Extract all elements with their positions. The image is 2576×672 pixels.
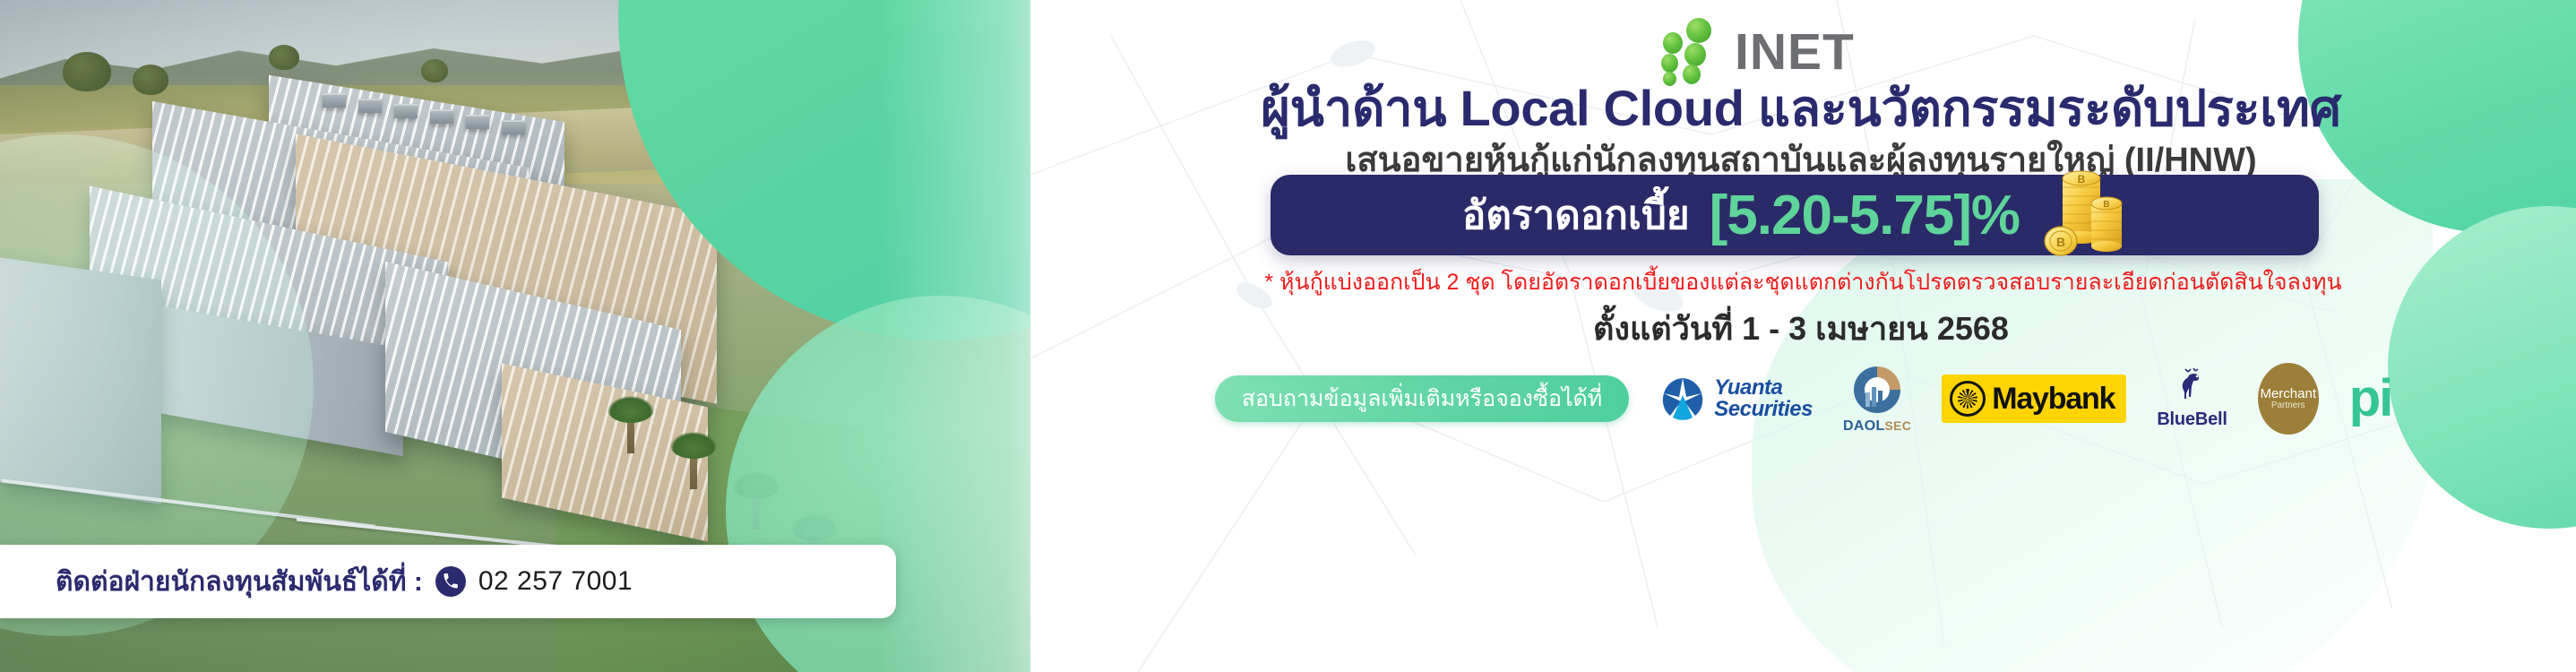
merchant-partners-oval-icon: Merchant Partners <box>2258 363 2319 435</box>
svg-text:B: B <box>2078 173 2086 185</box>
yuanta-star-icon <box>1659 375 1706 422</box>
inquiry-cta-label: สอบถามข้อมูลเพิ่มเติมหรือจองซื้อได้ที่ <box>1242 381 1603 417</box>
inet-logo: INET <box>1649 14 1944 84</box>
daol-pie-chart-icon <box>1851 364 1903 416</box>
inquiry-cta-button[interactable]: สอบถามข้อมูลเพิ่มเติมหรือจองซื้อได้ที่ <box>1215 375 1630 422</box>
partner-logo-daol[interactable]: DAOLSEC <box>1843 364 1911 435</box>
yuanta-line2: Securities <box>1714 399 1813 420</box>
contact-label: ติดต่อฝ่ายนักลงทุนสัมพันธ์ได้ที่ : <box>56 561 423 603</box>
yuanta-line1: Yuanta <box>1714 377 1813 399</box>
pi-wordmark-icon: pi <box>2349 378 2392 419</box>
bitcoin-coin-stack-icon: B B B <box>2041 162 2127 259</box>
partner-logo-maybank[interactable]: Maybank <box>1942 375 2126 423</box>
bluebell-wordmark: BlueBell <box>2157 409 2227 430</box>
investor-relations-contact[interactable]: ติดต่อฝ่ายนักลงทุนสัมพันธ์ได้ที่ : 02 25… <box>0 545 896 618</box>
partner-logo-pi[interactable]: pi <box>2349 378 2392 419</box>
merchant-line1: Merchant <box>2260 387 2316 401</box>
maybank-tiger-icon <box>1950 381 1986 417</box>
daol-wordmark: DAOLSEC <box>1843 418 1911 435</box>
page-title: ผู้นำด้าน Local Cloud และนวัตกรรมระดับปร… <box>1057 81 2545 136</box>
contact-phone-number: 02 257 7001 <box>478 566 633 597</box>
daol-word1: DAOL <box>1843 418 1885 434</box>
partner-logo-yuanta[interactable]: Yuanta Securities <box>1659 375 1813 422</box>
inet-bubbles-logo-icon <box>1649 18 1735 84</box>
offer-date-range: ตั้งแต่วันที่ 1 - 3 เมษายน 2568 <box>1057 303 2545 354</box>
interest-rate-value: [5.20-5.75]% <box>1710 184 2020 247</box>
yuanta-wordmark: Yuanta Securities <box>1714 377 1813 421</box>
partner-logo-merchant-partners[interactable]: Merchant Partners <box>2258 363 2319 435</box>
disclaimer-text: * หุ้นกู้แบ่งออกเป็น 2 ชุด โดยอัตราดอกเบ… <box>1030 264 2576 300</box>
daol-word2: SEC <box>1885 418 1912 433</box>
promotional-banner: INET ผู้นำด้าน Local Cloud และนวัตกรรมระ… <box>0 0 2576 672</box>
interest-rate-label: อัตราดอกเบี้ย <box>1462 184 1690 246</box>
maybank-wordmark: Maybank <box>1992 382 2115 417</box>
partner-logo-bluebell[interactable]: BlueBell <box>2157 368 2227 430</box>
svg-text:B: B <box>2056 235 2065 249</box>
partner-logo-row: สอบถามข้อมูลเพิ่มเติมหรือจองซื้อได้ที่ Y… <box>1030 363 2576 435</box>
svg-text:B: B <box>2103 200 2109 210</box>
merchant-line2: Partners <box>2271 401 2305 410</box>
bluebell-deer-icon <box>2172 368 2213 408</box>
content-panel: INET ผู้นำด้าน Local Cloud และนวัตกรรมระ… <box>1030 0 2576 672</box>
phone-icon <box>435 566 466 597</box>
inet-logo-text: INET <box>1735 27 1855 78</box>
interest-rate-box: อัตราดอกเบี้ย [5.20-5.75]% <box>1271 175 2319 255</box>
